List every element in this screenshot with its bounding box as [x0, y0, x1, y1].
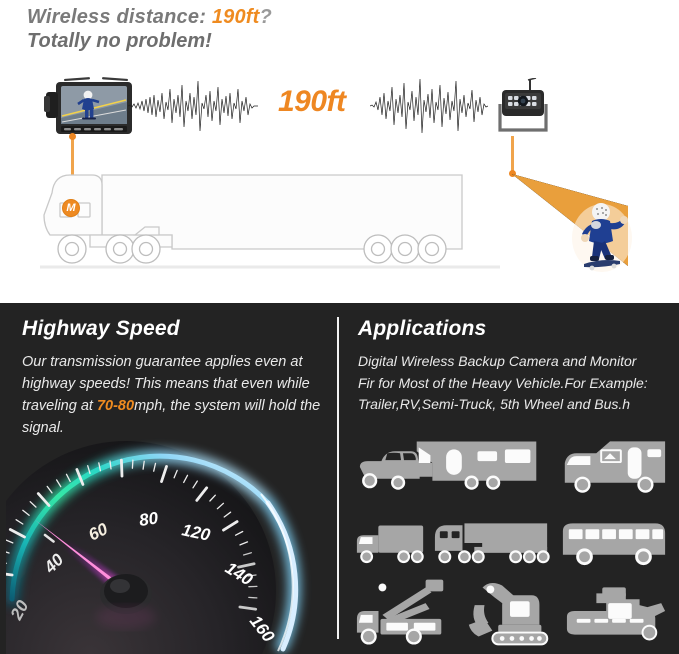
headline-text-pre: Wireless distance: [27, 6, 212, 28]
bus-icon [556, 517, 672, 569]
monitor-connector-dot [69, 133, 76, 140]
headline-distance-value: 190ft [212, 6, 260, 28]
applications-body: Digital Wireless Backup Camera and Monit… [358, 351, 668, 416]
page-title: Wireless distance: 190ft? [27, 5, 272, 30]
monitor-location-badge: M [62, 199, 80, 217]
highway-speed-value: 70-80 [97, 398, 134, 414]
page-subtitle: Totally no problem! [27, 30, 212, 53]
pickup-with-fifth-wheel-trailer-icon [352, 433, 552, 499]
signal-waveform-right [370, 75, 488, 137]
highway-speed-body: Our transmission guarantee applies even … [22, 351, 322, 439]
wireless-monitor-device [42, 76, 140, 138]
semi-truck-outline [30, 163, 510, 273]
signal-waveform-left [128, 75, 258, 137]
highway-speed-column: Highway Speed Our transmission guarantee… [22, 317, 322, 439]
applications-body-line-1: Digital Wireless Backup Camera and Monit… [358, 351, 668, 373]
applications-body-line-2: Fir for Most of the Heavy Vehicle.For Ex… [358, 373, 668, 395]
bucket-boom-lift-truck-icon [352, 575, 458, 647]
headline-question-mark: ? [260, 6, 272, 28]
column-divider [337, 317, 339, 639]
applications-column: Applications Digital Wireless Backup Cam… [358, 317, 668, 416]
motorhome-rv-icon [552, 433, 672, 499]
features-section: Highway Speed Our transmission guarantee… [0, 303, 679, 654]
camera-connector-line [511, 136, 514, 174]
skateboarder [572, 198, 632, 272]
excavator-icon [458, 575, 562, 647]
semi-truck-trailer-icon [430, 517, 556, 569]
applications-body-line-3: Trailer,RV,Semi-Truck, 5th Wheel and Bus… [358, 394, 668, 416]
svg-text:80: 80 [138, 508, 160, 530]
wireless-backup-camera-device [492, 78, 554, 140]
hero-section: Wireless distance: 190ft? Totally no pro… [0, 0, 679, 303]
applications-title: Applications [358, 317, 668, 341]
speedometer-gauge: 20 40 60 80 120 140 160 170 180 [6, 431, 326, 654]
applications-icon-grid [352, 421, 672, 647]
icon-row [352, 569, 672, 647]
combine-harvester-icon [562, 575, 672, 647]
highway-speed-title: Highway Speed [22, 317, 322, 341]
distance-label: 190ft [278, 85, 346, 119]
icon-row [352, 499, 672, 569]
box-truck-icon [352, 517, 430, 569]
icon-row [352, 421, 672, 499]
